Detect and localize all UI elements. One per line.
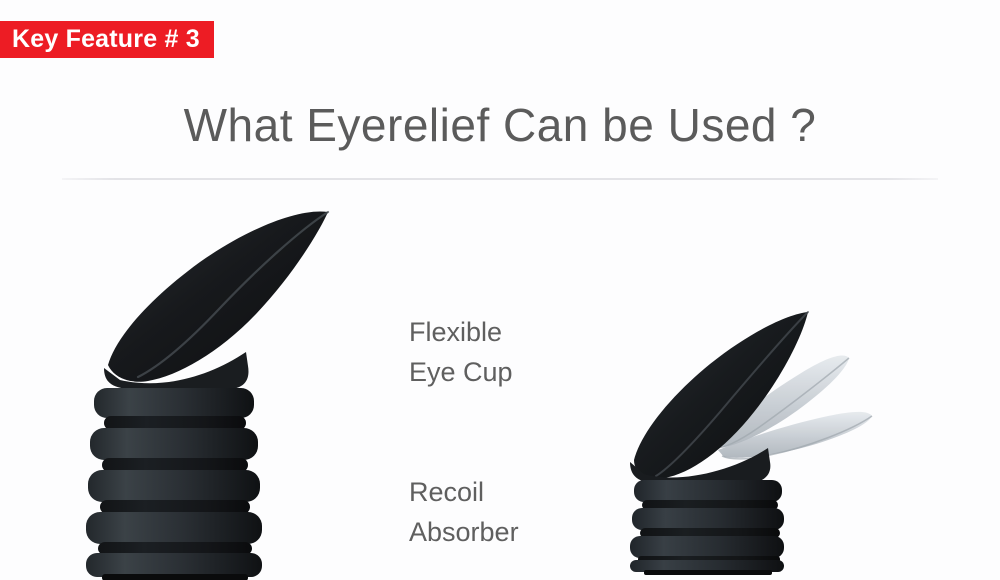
recoil-absorber-bellows [630,480,784,575]
callout-flexible-eye-cup: Flexible Eye Cup [409,312,513,392]
callout-recoil-line1: Recoil [409,472,519,512]
slide-canvas: Key Feature # 3 What Eyerelief Can be Us… [0,0,1000,580]
page-title: What Eyerelief Can be Used ? [0,98,1000,152]
callout-flexible-line2: Eye Cup [409,352,513,392]
callout-flexible-line1: Flexible [409,312,513,352]
callout-recoil-absorber: Recoil Absorber [409,472,519,552]
eyecup-flexing-image [600,290,960,575]
callout-recoil-line2: Absorber [409,512,519,552]
key-feature-badge: Key Feature # 3 [0,21,214,58]
recoil-absorber-bellows [86,388,262,580]
title-divider [62,178,938,180]
eyecup-upright-image [60,190,360,580]
